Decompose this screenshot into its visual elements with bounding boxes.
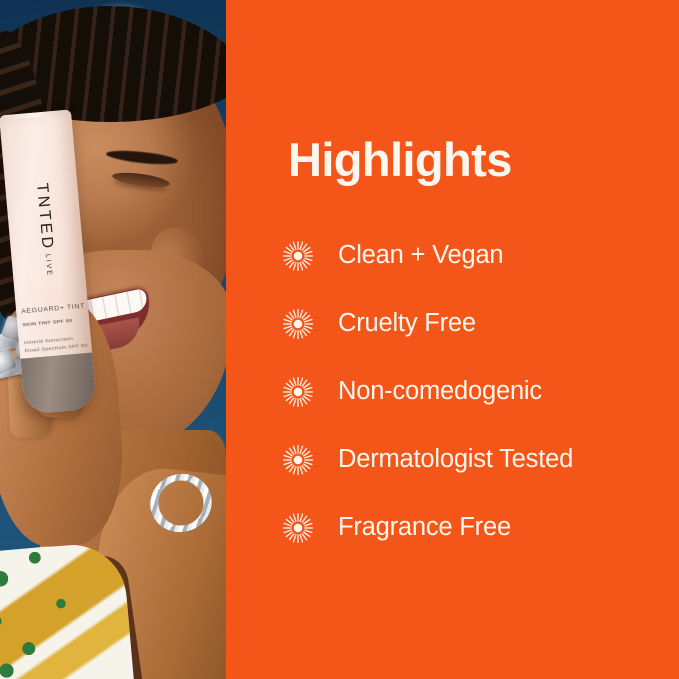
highlight-item: Clean + Vegan [282, 222, 672, 290]
page-title: Highlights [288, 136, 512, 183]
product-brand-name: TNTED [32, 182, 56, 252]
highlight-item-label: Non-comedogenic [338, 379, 542, 405]
patterned-shirt [0, 540, 134, 679]
sunburst-icon [282, 308, 314, 340]
highlight-item: Fragrance Free [282, 494, 672, 562]
highlights-panel: Highlights Clean + VeganCruelty FreeNon-… [226, 0, 679, 679]
highlight-item: Dermatologist Tested [282, 426, 672, 494]
sunburst-icon [282, 512, 314, 544]
tube-cap [20, 353, 97, 415]
ad-creative-root: TNTED LIVE AEGUARD+ TINT SKIN TINT SPF 5… [0, 0, 679, 679]
highlight-item-label: Cruelty Free [338, 311, 476, 337]
highlight-item-label: Clean + Vegan [338, 243, 503, 269]
product-label-line-2: SKIN TINT SPF 50 [22, 318, 72, 328]
highlight-item: Cruelty Free [282, 290, 672, 358]
highlight-item-label: Dermatologist Tested [338, 447, 573, 473]
shirt-pattern [0, 540, 134, 679]
highlight-item: Non-comedogenic [282, 358, 672, 426]
sunburst-icon [282, 376, 314, 408]
sunburst-icon [282, 444, 314, 476]
product-lifestyle-photo: TNTED LIVE AEGUARD+ TINT SKIN TINT SPF 5… [0, 0, 226, 679]
sunburst-icon [282, 240, 314, 272]
highlights-list: Clean + VeganCruelty FreeNon-comedogenic… [282, 222, 672, 562]
product-label-line-1: AEGUARD+ TINT [21, 303, 85, 315]
highlight-item-label: Fragrance Free [338, 515, 511, 541]
product-sub-brand: LIVE [44, 254, 53, 278]
